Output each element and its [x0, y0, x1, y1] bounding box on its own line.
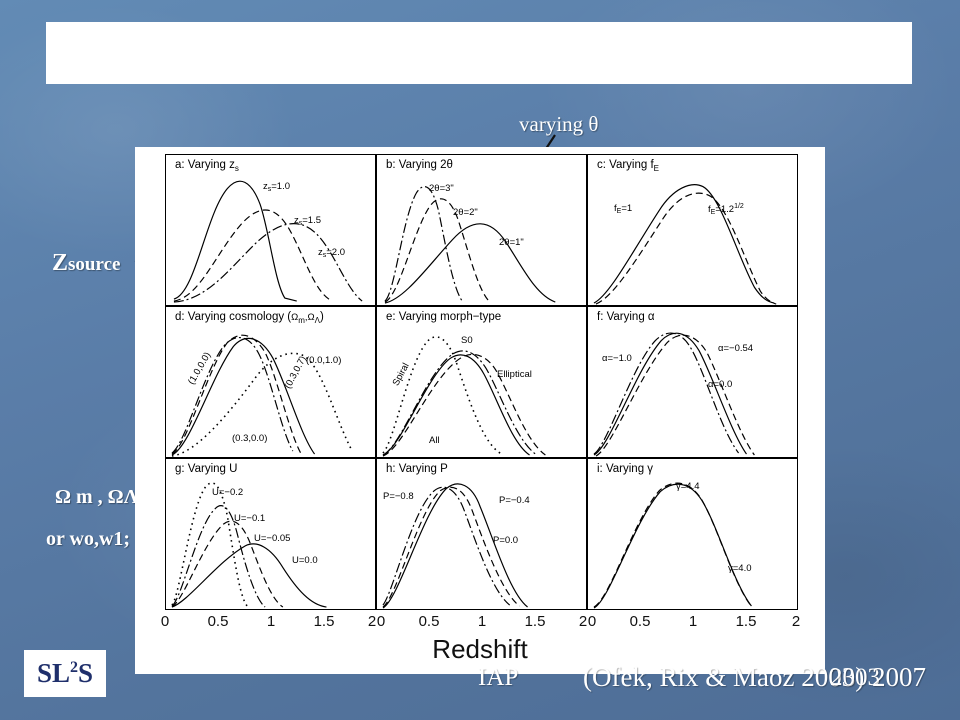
panel-f-curves	[588, 307, 797, 457]
sl2s-logo-post: S	[78, 658, 93, 688]
panel-a-label-zs15: zs=1.5	[294, 215, 321, 227]
annotation-omega-params: Ω m , ΩΛ	[55, 486, 138, 509]
panel-i: i: Varying γ γ=4.4 γ=4.0	[587, 458, 798, 610]
xtick-3: 1.5	[314, 613, 335, 630]
panel-h-curves	[377, 459, 586, 609]
panel-h-label-p04: P=−0.4	[499, 495, 530, 506]
panel-i-label-g40: γ=4.0	[728, 563, 752, 574]
figure-container: Probability a: Varying zs zs=1.0 zs=1.5 …	[135, 147, 825, 674]
panel-e-label-s0: S0	[461, 335, 473, 346]
xtick-10: 0	[588, 613, 596, 630]
panel-g-label-u01: U=−0.1	[234, 513, 265, 524]
xtick-1: 0.5	[208, 613, 229, 630]
panel-g-label-u02: U=−0.2	[212, 487, 243, 498]
sl2s-logo: SL2S	[24, 650, 106, 697]
panel-e-label-elliptical: Elliptical	[497, 369, 532, 380]
panel-b-curves	[377, 155, 586, 305]
chart-xlabel: Redshift	[135, 634, 825, 665]
panel-h-label-p00: P=0.0	[493, 535, 518, 546]
panel-b-label-2theta1: 2θ=1"	[499, 237, 524, 248]
panel-e-curves	[377, 307, 586, 457]
panel-h-label-p08: P=−0.8	[383, 491, 414, 502]
footer-reference: (Ofek, Rix & Maoz 2003)	[583, 662, 864, 693]
annotation-w-params: or wo,w1;	[46, 528, 130, 551]
annotation-varying-theta: varying θ	[519, 112, 598, 137]
figure-inner: Probability a: Varying zs zs=1.0 zs=1.5 …	[135, 147, 825, 674]
xtick-7: 1	[478, 613, 486, 630]
xtick-4: 2	[368, 613, 376, 630]
panel-b-label-2theta2: 2θ=2"	[453, 207, 478, 218]
xtick-12: 1	[689, 613, 697, 630]
panel-a-curves	[166, 155, 375, 305]
sl2s-logo-sup: 2	[70, 659, 78, 676]
panel-c-label-fe12: fE=1.21/2	[708, 203, 744, 216]
panel-e-label-all: All	[429, 435, 440, 446]
annotation-z-source: Zsource	[52, 250, 120, 277]
panel-i-label-g44: γ=4.4	[676, 481, 700, 492]
footer-year: 2007	[872, 662, 926, 693]
xtick-13: 1.5	[736, 613, 757, 630]
xtick-0: 0	[161, 613, 169, 630]
panel-g-label-u005: U=−0.05	[254, 533, 290, 544]
title-banner	[46, 22, 912, 84]
panel-d: d: Varying cosmology (Ωm,ΩΛ) (1.0,0.0) (…	[165, 306, 376, 458]
chart-xticks: 0 0.5 1 1.5 2 0 0.5 1 1.5 2 0 0.5 1 1.5 …	[165, 613, 798, 633]
panel-b: b: Varying 2θ 2θ=3" 2θ=2" 2θ=1"	[376, 154, 587, 306]
panel-c-label-fe1: fE=1	[614, 203, 632, 215]
footer-venue: IAP	[478, 664, 518, 692]
panel-c: c: Varying fE fE=1 fE=1.21/2	[587, 154, 798, 306]
panel-f-label-a00: α=0.0	[708, 379, 732, 390]
panel-a: a: Varying zs zs=1.0 zs=1.5 zs=2.0	[165, 154, 376, 306]
panel-c-curves	[588, 155, 797, 305]
panel-a-label-zs10: zs=1.0	[263, 181, 290, 193]
panel-g: g: Varying U U=−0.2 U=−0.1 U=−0.05 U=0.0	[165, 458, 376, 610]
annotation-z-source-suffix: source	[68, 254, 120, 275]
xtick-2: 1	[267, 613, 275, 630]
xtick-14: 2	[792, 613, 800, 630]
annotation-z-source-prefix: Z	[52, 250, 68, 276]
panel-g-label-u00: U=0.0	[292, 555, 318, 566]
xtick-11: 0.5	[630, 613, 651, 630]
panel-d-label-0: (0.0,1.0)	[306, 355, 341, 366]
panel-f-label-a054: α=−0.54	[718, 343, 753, 354]
panel-f-label-a1: α=−1.0	[602, 353, 632, 364]
xtick-8: 1.5	[525, 613, 546, 630]
xtick-6: 0.5	[419, 613, 440, 630]
panel-e: e: Varying morph−type Spiral S0 Elliptic…	[376, 306, 587, 458]
panel-grid: a: Varying zs zs=1.0 zs=1.5 zs=2.0 b: Va…	[165, 154, 798, 610]
xtick-9: 2	[579, 613, 587, 630]
panel-h: h: Varying P P=−0.8 P=−0.4 P=0.0	[376, 458, 587, 610]
sl2s-logo-pre: SL	[37, 658, 70, 688]
panel-b-label-2theta3: 2θ=3"	[429, 183, 454, 194]
panel-f: f: Varying α α=−1.0 α=−0.54 α=0.0	[587, 306, 798, 458]
sl2s-logo-text: SL2S	[37, 658, 93, 689]
panel-a-label-zs20: zs=2.0	[318, 247, 345, 259]
panel-d-label-2: (0.3,0.0)	[232, 433, 267, 444]
xtick-5: 0	[377, 613, 385, 630]
